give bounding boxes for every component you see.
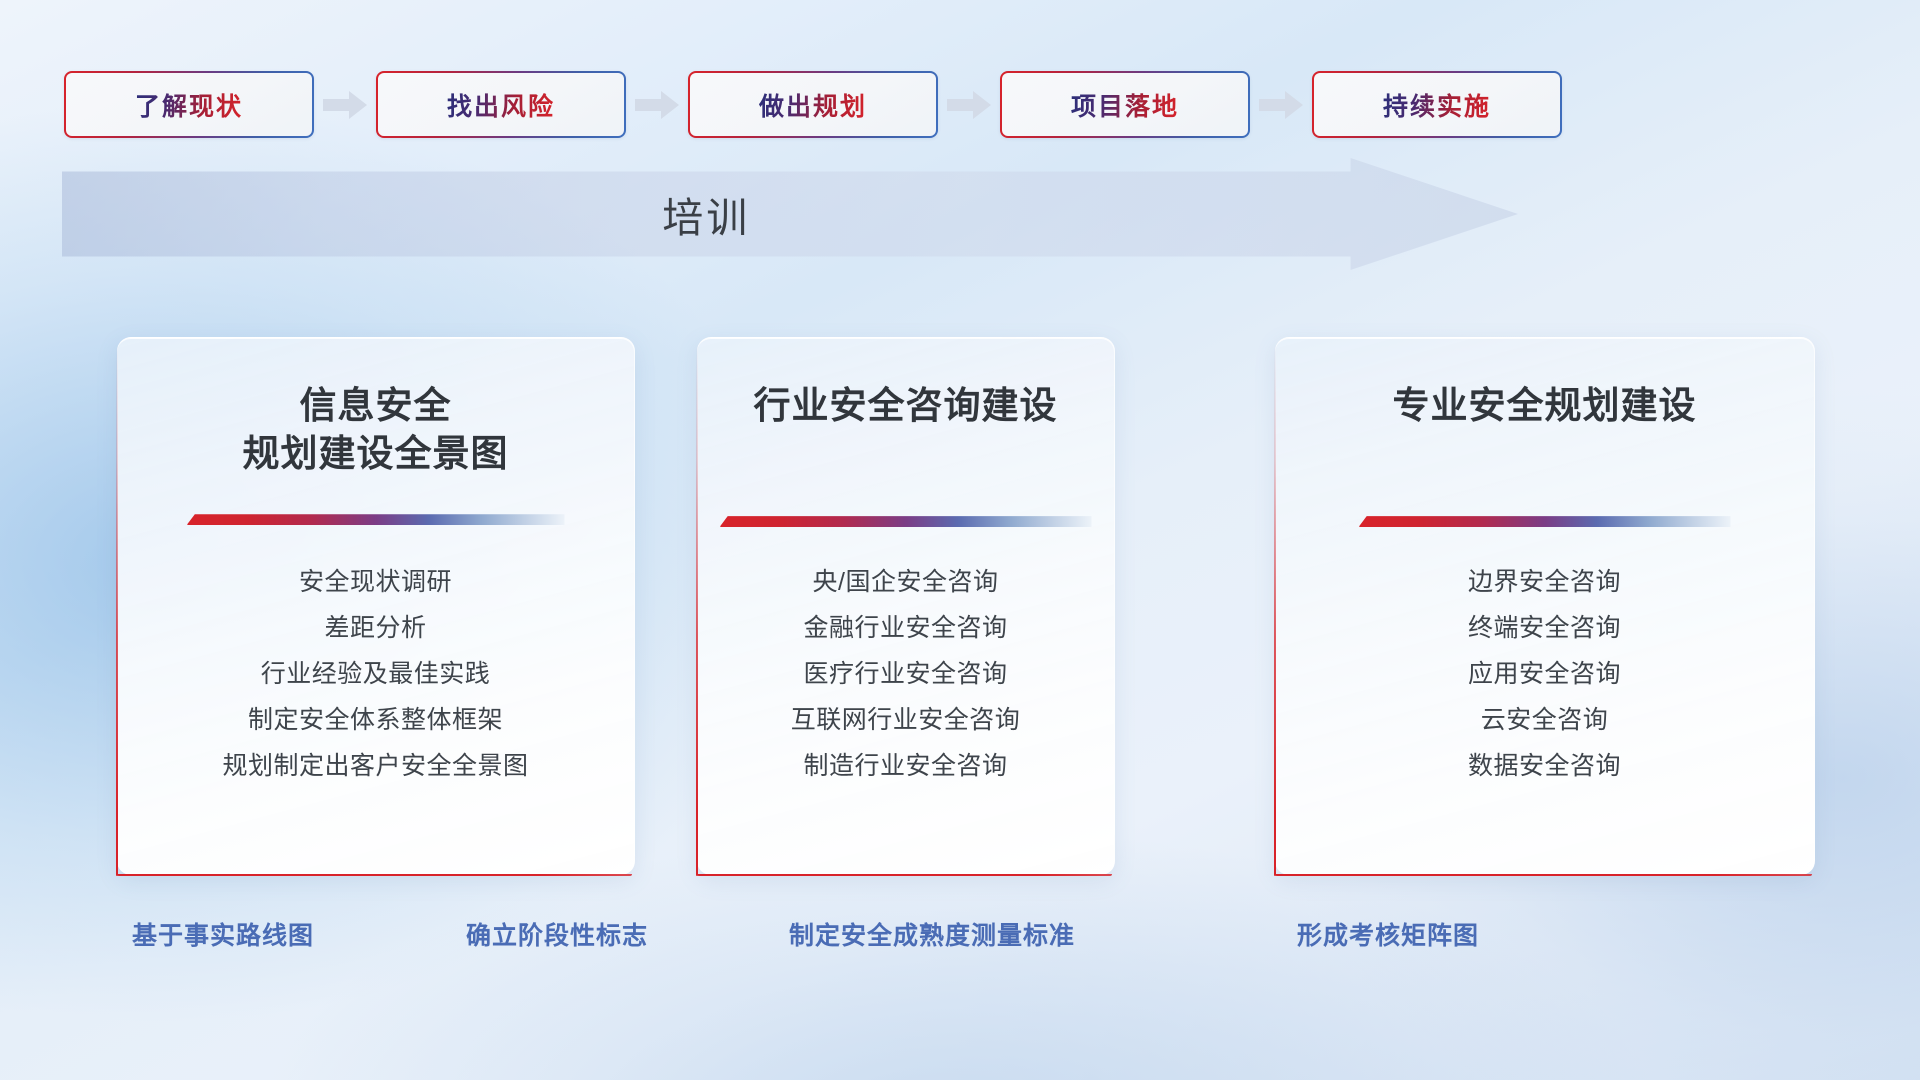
card-industry-security-consulting[interactable]: 行业安全咨询建设 央/国企安全咨询 金融行业安全咨询 医疗行业安全咨询 互联网行… xyxy=(697,337,1115,875)
list-item: 金融行业安全咨询 xyxy=(715,605,1096,651)
card-title: 行业安全咨询建设 xyxy=(715,382,1096,430)
pipeline-step-0[interactable]: 了解现状 xyxy=(64,71,314,138)
card-title: 信息安全 规划建设全景图 xyxy=(135,382,616,478)
list-item: 制造行业安全咨询 xyxy=(715,743,1096,789)
list-item: 应用安全咨询 xyxy=(1293,651,1796,697)
list-item: 云安全咨询 xyxy=(1293,697,1796,743)
footer-label: 基于事实路线图 xyxy=(132,916,314,952)
slide-root: { "pipeline": { "steps": [ { "label": "了… xyxy=(0,0,1920,1080)
list-item: 制定安全体系整体框架 xyxy=(135,697,616,743)
arrow-right-icon xyxy=(321,89,369,121)
arrow-right-icon xyxy=(945,89,993,121)
card-information-security-panorama[interactable]: 信息安全 规划建设全景图 安全现状调研 差距分析 行业经验及最佳实践 制定安全体… xyxy=(117,337,635,875)
list-item: 差距分析 xyxy=(135,605,616,651)
arrow-right-icon xyxy=(1257,89,1305,121)
footer-label: 制定安全成熟度测量标准 xyxy=(789,916,1075,952)
list-item: 规划制定出客户安全全景图 xyxy=(135,743,616,789)
pipeline-step-4[interactable]: 持续实施 xyxy=(1312,71,1562,138)
pipeline-steps: 了解现状 找出风险 做出规划 项目落地 持续实施 xyxy=(64,71,1512,138)
list-item: 终端安全咨询 xyxy=(1293,605,1796,651)
footer-labels: 基于事实路线图 确立阶段性标志 制定安全成熟度测量标准 形成考核矩阵图 xyxy=(0,916,1920,960)
training-band: 培训 xyxy=(62,158,1518,270)
list-item: 安全现状调研 xyxy=(135,559,616,605)
footer-label: 确立阶段性标志 xyxy=(466,916,648,952)
card-divider-rule xyxy=(1359,516,1731,527)
cards-row: 信息安全 规划建设全景图 安全现状调研 差距分析 行业经验及最佳实践 制定安全体… xyxy=(0,337,1920,875)
list-item: 行业经验及最佳实践 xyxy=(135,651,616,697)
band-title: 培训 xyxy=(62,158,1351,270)
pipeline-step-3[interactable]: 项目落地 xyxy=(1000,71,1250,138)
pipeline-step-2[interactable]: 做出规划 xyxy=(688,71,938,138)
pipeline-step-label: 做出规划 xyxy=(759,87,867,123)
pipeline-step-label: 项目落地 xyxy=(1071,87,1179,123)
list-item: 边界安全咨询 xyxy=(1293,559,1796,605)
card-list: 央/国企安全咨询 金融行业安全咨询 医疗行业安全咨询 互联网行业安全咨询 制造行… xyxy=(715,559,1096,789)
card-list: 安全现状调研 差距分析 行业经验及最佳实践 制定安全体系整体框架 规划制定出客户… xyxy=(135,559,616,789)
pipeline-step-label: 了解现状 xyxy=(135,87,243,123)
pipeline-step-label: 持续实施 xyxy=(1383,87,1491,123)
card-title: 专业安全规划建设 xyxy=(1293,382,1796,430)
card-professional-security-planning[interactable]: 专业安全规划建设 边界安全咨询 终端安全咨询 应用安全咨询 云安全咨询 数据安全… xyxy=(1275,337,1815,875)
list-item: 央/国企安全咨询 xyxy=(715,559,1096,605)
list-item: 互联网行业安全咨询 xyxy=(715,697,1096,743)
list-item: 医疗行业安全咨询 xyxy=(715,651,1096,697)
footer-label: 形成考核矩阵图 xyxy=(1297,916,1479,952)
list-item: 数据安全咨询 xyxy=(1293,743,1796,789)
card-divider-rule xyxy=(187,514,565,525)
card-divider-rule xyxy=(720,516,1092,527)
card-list: 边界安全咨询 终端安全咨询 应用安全咨询 云安全咨询 数据安全咨询 xyxy=(1293,559,1796,789)
arrow-right-icon xyxy=(633,89,681,121)
pipeline-step-label: 找出风险 xyxy=(447,87,555,123)
pipeline-step-1[interactable]: 找出风险 xyxy=(376,71,626,138)
